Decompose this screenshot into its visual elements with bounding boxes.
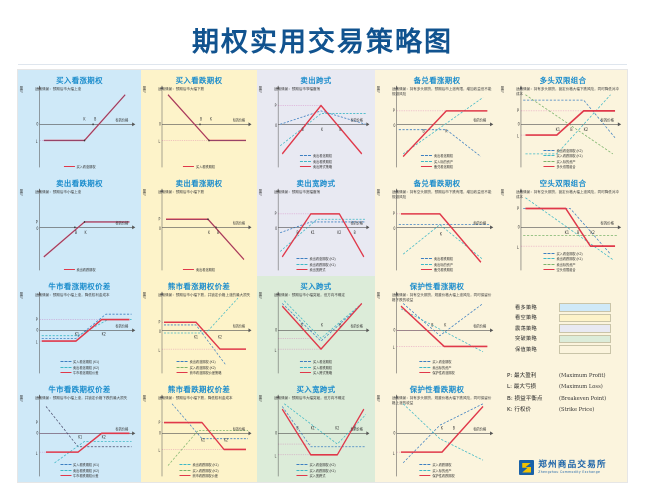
- svg-text:K1: K1: [311, 231, 315, 236]
- page-title: 期权实用交易策略图: [0, 20, 645, 59]
- strategy-cell[interactable]: 备兑看涨期权适用情景：持有多头期货，预期后市上涨有限，增加收益但不能规避风险盈亏…: [375, 70, 499, 173]
- payoff-chart: 0LKB标的价格: [31, 84, 138, 170]
- legend-label: 卖出看涨期权 (K2): [556, 148, 582, 153]
- svg-text:K2: K2: [590, 231, 594, 235]
- legend-label: 买入看跌期权 (K2): [192, 468, 218, 473]
- svg-text:标的价格: 标的价格: [600, 117, 614, 122]
- chart-legend: 买入看涨期权 (K2)卖出看跌期权 (K1)卖出标的资产空头双限组合: [543, 251, 582, 273]
- y-axis-label: 盈亏: [376, 189, 381, 196]
- svg-text:L: L: [275, 348, 277, 353]
- svg-text:K2: K2: [224, 438, 228, 443]
- legend-label: 卖出标的资产: [434, 262, 453, 267]
- legend-item: 熊市看涨期权价差策略: [177, 370, 222, 375]
- svg-text:B: B: [453, 426, 456, 430]
- svg-text:B: B: [75, 231, 78, 235]
- legend-item: 卖出看涨期权 (K2): [543, 148, 582, 153]
- svg-text:K: K: [208, 231, 211, 236]
- svg-text:B: B: [200, 117, 203, 122]
- svg-text:0: 0: [275, 124, 278, 129]
- legend-item: 卖出看跌期权: [421, 256, 453, 261]
- legend-item: 买入看涨期权 (K2): [177, 365, 222, 370]
- chart-legend: 卖出看涨期权: [183, 267, 215, 272]
- legend-swatch: [60, 464, 71, 465]
- strategy-column-1: 买入看涨期权适用情景：预期后市大幅上涨盈亏0LKB标的价格买入看涨期权卖出看跌期…: [18, 70, 141, 482]
- category-legend-row: 看多策略: [509, 302, 617, 313]
- svg-text:K1: K1: [565, 231, 570, 235]
- svg-text:标的价格: 标的价格: [473, 117, 486, 123]
- y-axis-label: 盈亏: [19, 292, 24, 299]
- chart-legend: 卖出看涨期权 (K2)买入看跌期权 (K1)买入标的资产多头双限组合: [543, 148, 582, 170]
- legend-label: 卖出看跌期权: [313, 159, 332, 164]
- chart-legend: 买入看涨期权卖出标的资产保护性看涨期权: [419, 359, 454, 375]
- svg-text:标的价格: 标的价格: [351, 323, 364, 329]
- svg-text:L: L: [36, 340, 38, 344]
- definition-en: (Breakeven Point): [559, 396, 606, 402]
- category-legend-swatch: [559, 314, 611, 323]
- legend-label: 买入标的资产: [432, 468, 451, 473]
- strategy-cell[interactable]: 熊市看涨期权价差适用情景：预期后市小幅下跌，并锁定价格上涨的最大损失盈亏P0LK…: [141, 276, 257, 379]
- legend-swatch: [421, 166, 432, 167]
- legend-swatch: [421, 269, 432, 270]
- legend-swatch: [419, 475, 430, 476]
- svg-text:B: B: [94, 117, 97, 121]
- svg-text:L: L: [159, 140, 161, 145]
- definition-row: K: 行权价(Strike Price): [507, 405, 625, 413]
- legend-item: 卖出看跌期权 (K1): [179, 462, 218, 467]
- legend-label: 买入看跌期权 (K1): [556, 153, 582, 158]
- legend-swatch: [60, 367, 71, 368]
- legend-item: 买入宽跨式: [296, 473, 335, 478]
- definition-cn: B: 损益平衡点: [507, 394, 559, 402]
- svg-text:B: B: [570, 128, 573, 132]
- chart-legend: 买入看跌期权买入标的资产保护性看跌期权: [419, 462, 454, 478]
- chart-legend: 卖出看涨期权买入标的资产备兑看涨期权: [421, 153, 453, 169]
- legend-swatch: [300, 166, 311, 167]
- payoff-chart: 0LBK标的价格: [154, 84, 254, 170]
- legend-label: 卖出看涨期权 (K2): [73, 365, 99, 370]
- legend-swatch: [179, 470, 190, 471]
- legend-item: 多头双限组合: [543, 164, 582, 169]
- svg-text:0: 0: [393, 227, 396, 231]
- svg-text:标的价格: 标的价格: [351, 220, 364, 226]
- legend-item: 卖出看涨期权: [421, 153, 453, 158]
- legend-swatch: [543, 155, 554, 156]
- legend-label: 保护性看涨期权: [432, 370, 454, 375]
- legend-label: 买入看涨期权 (K2): [190, 365, 216, 370]
- legend-item: 买入看涨期权: [63, 164, 95, 169]
- definition-row: P: 最大盈利(Maximum Profit): [507, 371, 625, 379]
- legend-item: 买入看跌期权 (K1): [543, 153, 582, 158]
- strategy-cell[interactable]: 卖出跨式适用情景：预期后市窄幅震荡盈亏P0BKB标的价格卖出看涨期权卖出看跌期权…: [257, 70, 375, 173]
- legend-swatch: [177, 372, 188, 373]
- svg-text:K1: K1: [78, 435, 82, 439]
- legend-swatch: [183, 269, 194, 270]
- svg-text:L: L: [36, 451, 38, 455]
- strategy-cell[interactable]: 备兑看跌期权适用情景：持有空头期货，预期后市下跌有限，增加收益但不能规避风险盈亏…: [375, 173, 499, 276]
- strategy-cell[interactable]: 多头双限组合适用情景：持有多头期货，锁定价格大幅下跌风险，同时降低对冲成本盈亏P…: [499, 70, 627, 173]
- legend-swatch: [296, 464, 307, 465]
- legend-item: 卖出看涨期权: [300, 153, 332, 158]
- strategy-cell[interactable]: 买入宽跨式适用情景：预期后市大幅突破，但方向不确定盈亏0LBK1K2B标的价格买…: [257, 379, 375, 482]
- category-legend-row: 突破策略: [509, 334, 617, 345]
- svg-text:P: P: [393, 212, 396, 216]
- category-legend-row: 保值策略: [509, 344, 617, 355]
- legend-label: 买入看涨期权 (K2): [556, 251, 582, 256]
- legend-label: 卖出看跌期权 (K1): [556, 256, 582, 261]
- category-legend-swatch: [559, 303, 611, 312]
- legend-label: 买入跨式策略: [313, 370, 332, 375]
- y-axis-label: 盈亏: [19, 395, 24, 402]
- svg-text:标的价格: 标的价格: [473, 323, 486, 329]
- svg-text:P: P: [517, 207, 520, 211]
- strategy-cell[interactable]: 买入看涨期权适用情景：预期后市大幅上涨盈亏0LKB标的价格买入看涨期权: [18, 70, 141, 173]
- legend-swatch: [296, 470, 307, 471]
- legend-item: 买入看跌期权 (K1): [60, 462, 99, 467]
- legend-swatch: [60, 372, 71, 373]
- legend-label: 卖出看跌期权: [76, 267, 95, 272]
- svg-text:0: 0: [275, 431, 278, 436]
- strategy-board: 买入看涨期权适用情景：预期后市大幅上涨盈亏0LKB标的价格买入看涨期权卖出看跌期…: [18, 70, 627, 482]
- legend-item: 买入看涨期权 (K1): [60, 359, 99, 364]
- legend-label: 卖出看跌期权 (K1): [309, 262, 335, 267]
- brand-name-cn: 郑州商品交易所: [538, 461, 607, 470]
- svg-text:0: 0: [36, 227, 39, 231]
- legend-label: 买入标的资产: [434, 159, 453, 164]
- svg-text:K: K: [441, 426, 444, 430]
- legend-label: 买入看跌期权: [196, 164, 215, 169]
- legend-item: 卖出标的资产: [421, 262, 453, 267]
- category-legend-label: 保值策略: [509, 346, 559, 353]
- legend-swatch: [177, 367, 188, 368]
- legend-swatch: [296, 264, 307, 265]
- y-axis-label: 盈亏: [142, 86, 147, 93]
- legend-swatch: [419, 470, 430, 471]
- svg-text:B: B: [354, 231, 357, 236]
- svg-text:K2: K2: [337, 231, 341, 236]
- y-axis-label: 盈亏: [376, 395, 381, 402]
- legend-item: 买入看涨期权 (K2): [296, 462, 335, 467]
- legend-swatch: [300, 372, 311, 373]
- svg-text:B: B: [302, 128, 305, 133]
- legend-item: 买入看跌期权 (K2): [179, 468, 218, 473]
- legend-item: 买入看跌期权 (K1): [296, 468, 335, 473]
- definition-en: (Strike Price): [559, 407, 594, 413]
- definition-en: (Maximum Loss): [559, 384, 603, 390]
- legend-label: 卖出看涨期权: [313, 153, 332, 158]
- svg-text:K: K: [440, 232, 443, 236]
- svg-text:标的价格: 标的价格: [600, 220, 614, 225]
- legend-label: 多头双限组合: [556, 164, 575, 169]
- legend-item: 卖出标的资产: [543, 262, 582, 267]
- svg-text:K1: K1: [201, 438, 205, 443]
- svg-text:K1: K1: [311, 426, 315, 431]
- svg-text:0: 0: [393, 328, 396, 332]
- svg-text:0: 0: [275, 227, 278, 232]
- svg-text:0: 0: [36, 328, 39, 332]
- category-legend-row: 看空策略: [509, 313, 617, 324]
- svg-text:K: K: [321, 128, 324, 133]
- svg-text:标的价格: 标的价格: [351, 117, 364, 123]
- category-legend-swatch: [559, 335, 611, 344]
- legend-swatch: [543, 269, 554, 270]
- strategy-cell[interactable]: 买入跨式适用情景：预期后市小幅突破，但方向不确定盈亏0LBKB标的价格买入看涨期…: [257, 276, 375, 379]
- y-axis-label: 盈亏: [500, 189, 505, 196]
- legend-swatch: [60, 361, 71, 362]
- definition-cn: L: 最大亏损: [507, 382, 559, 390]
- y-axis-label: 盈亏: [258, 189, 263, 196]
- legend-label: 牛市看涨期权价差: [73, 370, 99, 375]
- legend-label: 买入标的资产: [556, 159, 575, 164]
- svg-text:0: 0: [159, 431, 162, 436]
- svg-text:0: 0: [159, 122, 162, 127]
- legend-item: 备兑看跌期权: [421, 267, 453, 272]
- svg-text:标的价格: 标的价格: [233, 117, 245, 123]
- legend-item: 买入看涨期权 (K2): [543, 251, 582, 256]
- legend-item: 买入标的资产: [543, 159, 582, 164]
- category-legend-label: 突破策略: [509, 335, 559, 342]
- strategy-column-5: 多头双限组合适用情景：持有多头期货，锁定价格大幅下跌风险，同时降低对冲成本盈亏P…: [499, 70, 627, 482]
- strategy-cell[interactable]: 卖出看涨期权适用情景：预期后市小幅下跌盈亏P0KB标的价格卖出看涨期权: [141, 173, 257, 276]
- legend-item: 卖出看跌期权 (K2): [60, 468, 99, 473]
- svg-text:K2: K2: [335, 426, 339, 431]
- legend-swatch: [419, 367, 430, 368]
- strategy-column-2: 买入看跌期权适用情景：预期后市大幅下跌盈亏0LBK标的价格买入看跌期权卖出看涨期…: [141, 70, 257, 482]
- y-axis-label: 盈亏: [142, 189, 147, 196]
- y-axis-label: 盈亏: [258, 395, 263, 402]
- svg-text:P: P: [517, 109, 520, 113]
- svg-text:B: B: [577, 231, 580, 235]
- svg-text:标的价格: 标的价格: [116, 426, 129, 432]
- svg-text:标的价格: 标的价格: [116, 323, 129, 329]
- legend-swatch: [300, 361, 311, 362]
- legend-item: 买入标的资产: [419, 468, 454, 473]
- legend-swatch: [419, 361, 430, 362]
- y-axis-label: 盈亏: [142, 292, 147, 299]
- legend-item: 牛市看涨期权价差: [60, 370, 99, 375]
- svg-text:L: L: [517, 134, 520, 138]
- svg-text:P: P: [159, 320, 162, 325]
- legend-swatch: [421, 161, 432, 162]
- y-axis-label: 盈亏: [376, 86, 381, 93]
- svg-text:0: 0: [393, 124, 396, 128]
- payoff-chart: P0BK标的价格: [31, 187, 138, 273]
- category-legend: 看多策略看空策略震荡策略突破策略保值策略: [509, 302, 617, 355]
- strategy-cell[interactable]: 熊市看跌期权价差适用情景：预期后市小幅下跌，降低权利金成本盈亏P0LK1K2标的…: [141, 379, 257, 482]
- legend-label: 卖出看跌期权 (K2): [73, 468, 99, 473]
- legend-item: 买入看跌期权: [183, 164, 215, 169]
- legend-item: 卖出看涨期权 (K2): [296, 256, 335, 261]
- legend-swatch: [177, 361, 188, 362]
- legend-swatch: [300, 367, 311, 368]
- svg-text:标的价格: 标的价格: [233, 323, 245, 329]
- chart-legend: 买入看跌期权 (K1)卖出看跌期权 (K2)牛市看跌期权价差: [60, 462, 99, 478]
- category-legend-swatch: [559, 345, 611, 354]
- legend-swatch: [421, 264, 432, 265]
- strategy-cell[interactable]: 保护性看跌期权适用情景：持有多头期货，规避价格大幅下跌风险，同时保留价格上涨的收…: [375, 379, 499, 482]
- legend-label: 卖出看涨期权: [196, 267, 215, 272]
- category-legend-swatch: [559, 324, 611, 333]
- svg-text:K1: K1: [556, 128, 561, 132]
- legend-swatch: [543, 150, 554, 151]
- legend-item: 备兑看涨期权: [421, 164, 453, 169]
- svg-text:K: K: [210, 117, 213, 122]
- legend-label: 买入看跌期权 (K1): [309, 468, 335, 473]
- legend-item: 卖出看涨期权 (K1): [177, 359, 222, 364]
- svg-text:L: L: [159, 348, 161, 353]
- definition-row: L: 最大亏损(Maximum Loss): [507, 382, 625, 390]
- strategy-column-4: 备兑看涨期权适用情景：持有多头期货，预期后市上涨有限，增加收益但不能规避风险盈亏…: [375, 70, 499, 482]
- svg-text:0: 0: [518, 122, 521, 126]
- svg-text:K: K: [85, 231, 88, 235]
- svg-text:标的价格: 标的价格: [233, 220, 245, 226]
- svg-text:0: 0: [36, 122, 39, 126]
- legend-swatch: [63, 166, 74, 167]
- svg-text:K2: K2: [102, 332, 106, 336]
- svg-text:标的价格: 标的价格: [351, 426, 364, 432]
- legend-item: 卖出标的资产: [419, 365, 454, 370]
- chart-legend: 卖出看跌期权: [63, 267, 95, 272]
- legend-swatch: [419, 464, 430, 465]
- legend-label: 卖出看跌期权 (K1): [192, 462, 218, 467]
- strategy-column-3: 卖出跨式适用情景：预期后市窄幅震荡盈亏P0BKB标的价格卖出看涨期权卖出看跌期权…: [257, 70, 375, 482]
- legend-label: 卖出看涨期权: [434, 153, 453, 158]
- legend-item: 买入看跌期权: [300, 365, 332, 370]
- y-axis-label: 盈亏: [19, 189, 24, 196]
- legend-swatch: [543, 264, 554, 265]
- legend-label: 保护性看跌期权: [432, 473, 454, 478]
- legend-swatch: [179, 475, 190, 476]
- svg-text:K2: K2: [584, 128, 588, 132]
- strategy-cell[interactable]: 牛市看涨期权价差适用情景：预期后市小幅上涨，降低权利金成本盈亏P0LK1K2标的…: [18, 276, 141, 379]
- strategy-cell[interactable]: 卖出看跌期权适用情景：预期后市小幅上涨盈亏P0BK标的价格卖出看跌期权: [18, 173, 141, 276]
- legend-label: 卖出宽跨式: [309, 267, 325, 272]
- svg-text:P: P: [275, 212, 278, 217]
- category-legend-label: 看空策略: [509, 314, 559, 321]
- legend-item: 卖出看跌期权: [300, 159, 332, 164]
- legend-label: 卖出跨式策略: [313, 164, 332, 169]
- brand-text: 郑州商品交易所Zhengzhou Commodity Exchange: [538, 461, 607, 474]
- definition-en: (Maximum Profit): [559, 373, 606, 379]
- legend-label: 备兑看跌期权: [434, 267, 453, 272]
- legend-label: 熊市看跌期权价差: [192, 473, 218, 478]
- legend-item: 空头双限组合: [543, 267, 582, 272]
- legend-item: 卖出看涨期权: [183, 267, 215, 272]
- chart-legend: 卖出看跌期权 (K1)买入看跌期权 (K2)熊市看跌期权价差: [179, 462, 218, 478]
- svg-text:0: 0: [36, 431, 39, 435]
- svg-text:标的价格: 标的价格: [233, 426, 245, 432]
- svg-text:标的价格: 标的价格: [473, 220, 486, 226]
- legend-swatch: [296, 475, 307, 476]
- legend-item: 保护性看跌期权: [419, 473, 454, 478]
- legend-swatch: [419, 372, 430, 373]
- title-divider: [18, 64, 627, 65]
- chart-legend: 卖出看涨期权 (K2)卖出看跌期权 (K1)卖出宽跨式: [296, 256, 335, 272]
- legend-item: 卖出看跌期权 (K1): [543, 256, 582, 261]
- legend-label: 买入看跌期权 (K1): [73, 462, 99, 467]
- legend-swatch: [421, 258, 432, 259]
- svg-text:P: P: [159, 421, 162, 426]
- legend-label: 买入看涨期权: [432, 359, 451, 364]
- legend-label: 备兑看涨期权: [434, 164, 453, 169]
- poster-root: 期权实用交易策略图 买入看涨期权适用情景：预期后市大幅上涨盈亏0LKB标的价格买…: [0, 0, 645, 500]
- legend-label: 买入看涨期权 (K2): [309, 462, 335, 467]
- legend-swatch: [183, 166, 194, 167]
- legend-swatch: [543, 253, 554, 254]
- y-axis-label: 盈亏: [500, 86, 505, 93]
- svg-text:K2: K2: [218, 335, 222, 340]
- svg-text:P: P: [159, 217, 162, 222]
- svg-text:K1: K1: [75, 332, 79, 336]
- legend-swatch: [179, 464, 190, 465]
- legend-item: 买入看跌期权: [419, 462, 454, 467]
- legend-item: 买入跨式策略: [300, 370, 332, 375]
- brand-name-en: Zhengzhou Commodity Exchange: [538, 471, 607, 474]
- y-axis-label: 盈亏: [258, 86, 263, 93]
- svg-text:L: L: [393, 346, 396, 350]
- legend-label: 熊市看涨期权价差策略: [190, 370, 222, 375]
- y-axis-label: 盈亏: [258, 292, 263, 299]
- legend-item: 保护性看涨期权: [419, 370, 454, 375]
- legend-item: 卖出看跌期权 (K1): [296, 262, 335, 267]
- svg-text:P: P: [36, 318, 39, 322]
- definition-cn: K: 行权价: [507, 405, 559, 413]
- strategy-cell[interactable]: 买入看跌期权适用情景：预期后市大幅下跌盈亏0LBK标的价格买入看跌期权: [141, 70, 257, 173]
- exchange-logo: 郑州商品交易所Zhengzhou Commodity Exchange: [499, 460, 627, 475]
- legend-item: 卖出跨式策略: [300, 164, 332, 169]
- legend-label: 卖出标的资产: [556, 262, 575, 267]
- svg-text:K: K: [444, 323, 447, 327]
- legend-label: 买入看跌期权: [432, 462, 451, 467]
- svg-text:L: L: [159, 449, 161, 454]
- legend-item: 卖出看跌期权: [63, 267, 95, 272]
- svg-text:K: K: [321, 323, 324, 328]
- chart-legend: 卖出看跌期权卖出标的资产备兑看跌期权: [421, 256, 453, 272]
- svg-text:K: K: [83, 117, 86, 121]
- chart-legend: 买入看涨期权 (K2)买入看跌期权 (K1)买入宽跨式: [296, 462, 335, 478]
- legend-item: 买入看涨期权: [300, 359, 332, 364]
- strategy-cell[interactable]: 牛市看跌期权价差适用情景：预期后市小幅上涨，并锁定价格下跌的最大损失盈亏P0LK…: [18, 379, 141, 482]
- legend-swatch: [543, 166, 554, 167]
- category-legend-label: 震荡策略: [509, 325, 559, 332]
- definition-cn: P: 最大盈利: [507, 371, 559, 379]
- svg-text:B: B: [297, 426, 300, 431]
- strategy-cell[interactable]: 空头双限组合适用情景：持有空头期货，锁定价格大幅上涨风险，同时降低对冲成本盈亏P…: [499, 173, 627, 276]
- legend-swatch: [60, 475, 71, 476]
- legend-label: 买入看跌期权: [313, 365, 332, 370]
- y-axis-label: 盈亏: [376, 292, 381, 299]
- y-axis-label: 盈亏: [142, 395, 147, 402]
- zce-logo-icon: [519, 460, 534, 475]
- legend-swatch: [543, 258, 554, 259]
- symbol-definitions: P: 最大盈利(Maximum Profit)L: 最大亏损(Maximum L…: [507, 371, 625, 414]
- svg-text:L: L: [275, 454, 277, 459]
- chart-legend: 卖出看涨期权 (K1)买入看涨期权 (K2)熊市看涨期权价差策略: [177, 359, 222, 375]
- strategy-cell[interactable]: 保护性看涨期权适用情景：持有空头期货，规避价格大幅上涨风险，同时保留价格下跌的收…: [375, 276, 499, 379]
- svg-text:0: 0: [159, 227, 162, 232]
- legend-swatch: [63, 269, 74, 270]
- strategy-cell[interactable]: 卖出宽跨式适用情景：预期后市宽幅震荡盈亏P0BK1K2B标的价格卖出看涨期权 (…: [257, 173, 375, 276]
- svg-text:P: P: [36, 220, 39, 224]
- legend-label: 买入宽跨式: [309, 473, 325, 478]
- payoff-chart: P0KB标的价格: [154, 187, 254, 273]
- category-legend-row: 震荡策略: [509, 323, 617, 334]
- legend-item: 牛市看跌期权价差: [60, 473, 99, 478]
- svg-text:0: 0: [275, 328, 278, 333]
- legend-swatch: [60, 470, 71, 471]
- chart-legend: 卖出看涨期权卖出看跌期权卖出跨式策略: [300, 153, 332, 169]
- legend-label: 卖出看跌期权: [434, 256, 453, 261]
- legend-swatch: [296, 269, 307, 270]
